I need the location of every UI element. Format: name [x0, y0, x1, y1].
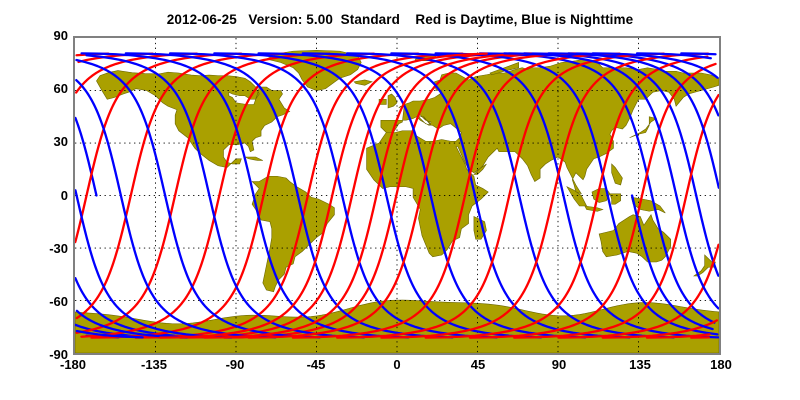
- y-axis: 9060300-30-60-90: [20, 36, 68, 355]
- landmass-iceland: [354, 80, 372, 85]
- landmass-africa-eurasia: [367, 59, 719, 257]
- y-tick-label: 30: [28, 134, 68, 149]
- landmass-philippines: [612, 164, 623, 185]
- nighttime-track: [75, 190, 76, 195]
- x-tick-label: -180: [43, 357, 103, 372]
- x-tick-label: -90: [205, 357, 265, 372]
- y-tick-label: 90: [28, 28, 68, 43]
- plot-svg: [75, 38, 719, 353]
- y-tick-label: 0: [28, 188, 68, 203]
- x-tick-label: 135: [610, 357, 670, 372]
- chart-title: 2012-06-25 Version: 5.00 Standard Red is…: [0, 12, 800, 27]
- plot-frame: [73, 36, 721, 355]
- x-axis: -180-135-90-4504590135180: [73, 357, 721, 379]
- x-tick-label: 90: [529, 357, 589, 372]
- ground-track-chart: 2012-06-25 Version: 5.00 Standard Red is…: [0, 0, 800, 400]
- landmass-british-isles: [388, 94, 397, 108]
- y-tick-label: -30: [28, 241, 68, 256]
- x-tick-label: 0: [367, 357, 427, 372]
- y-tick-label: -60: [28, 294, 68, 309]
- x-tick-label: 180: [691, 357, 751, 372]
- nighttime-track: [681, 53, 715, 54]
- x-tick-label: -45: [286, 357, 346, 372]
- plot-area: [75, 38, 719, 353]
- y-tick-label: 60: [28, 81, 68, 96]
- x-tick-label: 45: [448, 357, 508, 372]
- landmass-cuba: [245, 157, 263, 161]
- nighttime-track: [75, 118, 96, 196]
- x-tick-label: -135: [124, 357, 184, 372]
